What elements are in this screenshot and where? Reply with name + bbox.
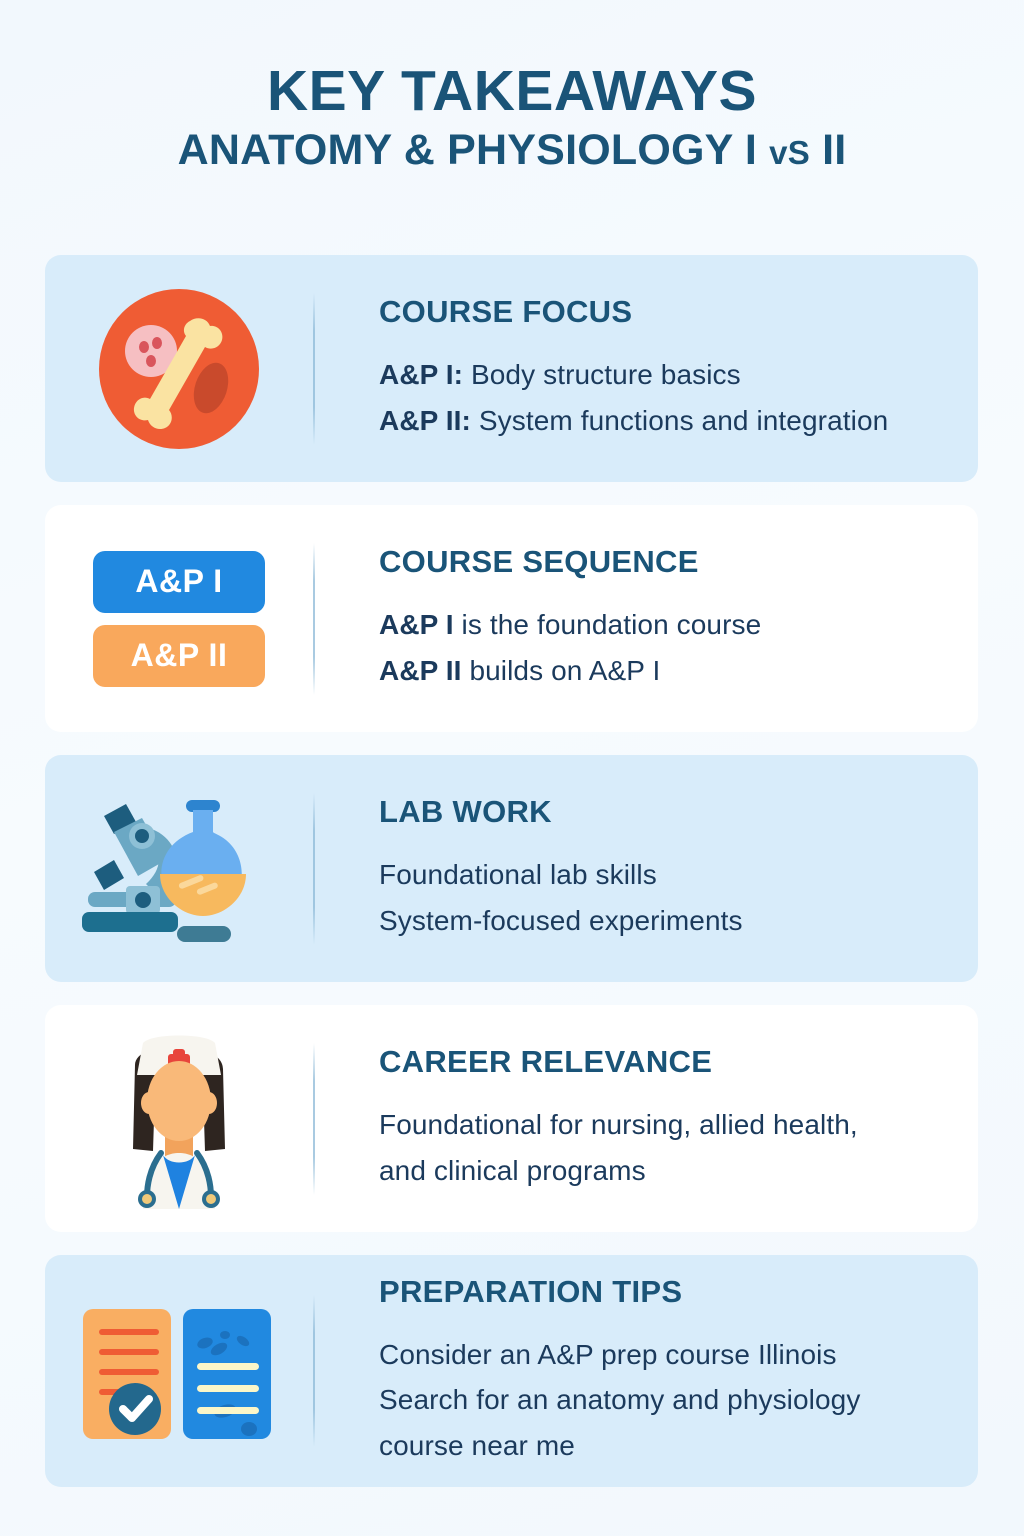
card-heading: CAREER RELEVANCE [379,1044,958,1080]
card-heading: LAB WORK [379,794,958,830]
card-line-rest: builds on A&P I [462,655,661,686]
card-line: course near me [379,1423,958,1468]
card-line: Consider an A&P prep course Illinois [379,1332,958,1377]
bone-cell-icon [95,285,263,453]
card-icon-container [45,1029,313,1209]
page-title: KEY TAKEAWAYS [0,62,1024,121]
takeaway-card-list: COURSE FOCUS A&P I: Body structure basic… [45,255,978,1510]
subtitle-tail: II [822,126,846,174]
card-line-rest: is the foundation course [454,609,762,640]
card-line-bold: A&P I [379,609,454,640]
card-line-bold: A&P II [379,655,462,686]
card-text-container: COURSE SEQUENCE A&P I is the foundation … [315,544,978,693]
card-line: A&P I is the foundation course [379,602,958,647]
card-text-container: PREPARATION TIPS Consider an A&P prep co… [315,1274,978,1468]
nurse-icon [99,1029,259,1209]
card-icon-container [45,285,313,453]
card-line: Search for an anatomy and physiology [379,1377,958,1422]
card-line: Foundational lab skills [379,852,958,897]
ap-badges-icon: A&P I A&P II [93,551,265,687]
card-icon-container [45,786,313,951]
card-line-rest: Consider an A&P prep course Illinois [379,1339,837,1370]
card-heading: COURSE FOCUS [379,294,958,330]
card-course-sequence: A&P I A&P II COURSE SEQUENCE A&P I is th… [45,505,978,732]
microscope-flask-icon [74,786,284,951]
card-course-focus: COURSE FOCUS A&P I: Body structure basic… [45,255,978,482]
card-line-rest: System functions and integration [471,405,888,436]
card-line-bold: A&P I: [379,359,463,390]
infographic-header: KEY TAKEAWAYS ANATOMY & PHYSIOLOGY I vS … [0,0,1024,175]
card-line: System-focused experiments [379,898,958,943]
card-line-bold: A&P II: [379,405,471,436]
card-preparation-tips: PREPARATION TIPS Consider an A&P prep co… [45,1255,978,1487]
card-line: A&P II: System functions and integration [379,398,958,443]
card-line-rest: System-focused experiments [379,905,743,936]
card-line: A&P II builds on A&P I [379,648,958,693]
badge-ap-one: A&P I [93,551,265,613]
card-text-container: COURSE FOCUS A&P I: Body structure basic… [315,294,978,443]
card-line-rest: and clinical programs [379,1155,646,1186]
card-line-rest: Body structure basics [463,359,741,390]
card-line-rest: Foundational for nursing, allied health, [379,1109,858,1140]
card-line-rest: Search for an anatomy and physiology [379,1384,860,1415]
card-icon-container: A&P I A&P II [45,551,313,687]
card-heading: COURSE SEQUENCE [379,544,958,580]
card-lab-work: LAB WORK Foundational lab skills System-… [45,755,978,982]
badge-ap-two: A&P II [93,625,265,687]
card-career-relevance: CAREER RELEVANCE Foundational for nursin… [45,1005,978,1232]
card-line: and clinical programs [379,1148,958,1193]
card-line-rest: course near me [379,1430,575,1461]
card-icon-container [45,1301,313,1441]
documents-checklist-icon [79,1301,279,1441]
subtitle-versus: vS [769,134,810,171]
card-line: Foundational for nursing, allied health, [379,1102,958,1147]
page-subtitle: ANATOMY & PHYSIOLOGY I vS II [0,127,1024,174]
card-line-rest: Foundational lab skills [379,859,657,890]
card-text-container: LAB WORK Foundational lab skills System-… [315,794,978,943]
card-line: A&P I: Body structure basics [379,352,958,397]
subtitle-main: ANATOMY & PHYSIOLOGY I [178,126,757,174]
card-heading: PREPARATION TIPS [379,1274,958,1310]
card-text-container: CAREER RELEVANCE Foundational for nursin… [315,1044,978,1193]
